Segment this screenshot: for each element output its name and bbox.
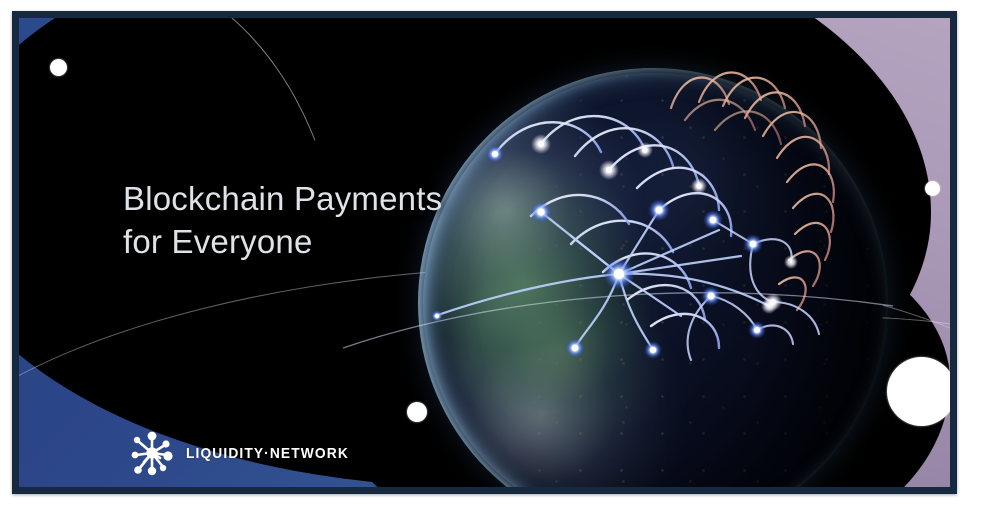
brand-logo: LIQUIDITY·NETWORK <box>127 428 363 478</box>
network-hub-starburst-icon <box>127 428 177 478</box>
earth-globe-icon <box>423 73 883 487</box>
slide-headline: Blockchain Payments for Everyone <box>123 178 483 264</box>
dot-bottom-left-icon <box>407 402 427 422</box>
slide-frame: Blockchain Payments for Everyone <box>12 11 957 494</box>
slide-canvas: Blockchain Payments for Everyone <box>19 18 950 487</box>
dot-top-right-icon <box>925 181 940 196</box>
globe-atmosphere-rim <box>418 68 888 487</box>
headline-line-2: for Everyone <box>123 221 483 264</box>
slide-page: Blockchain Payments for Everyone <box>0 0 981 511</box>
dot-large-bottom-right-icon <box>887 357 950 426</box>
headline-line-1: Blockchain Payments <box>123 180 442 217</box>
brand-logo-wordmark: LIQUIDITY·NETWORK <box>186 445 349 462</box>
dot-top-left-icon <box>50 59 67 76</box>
